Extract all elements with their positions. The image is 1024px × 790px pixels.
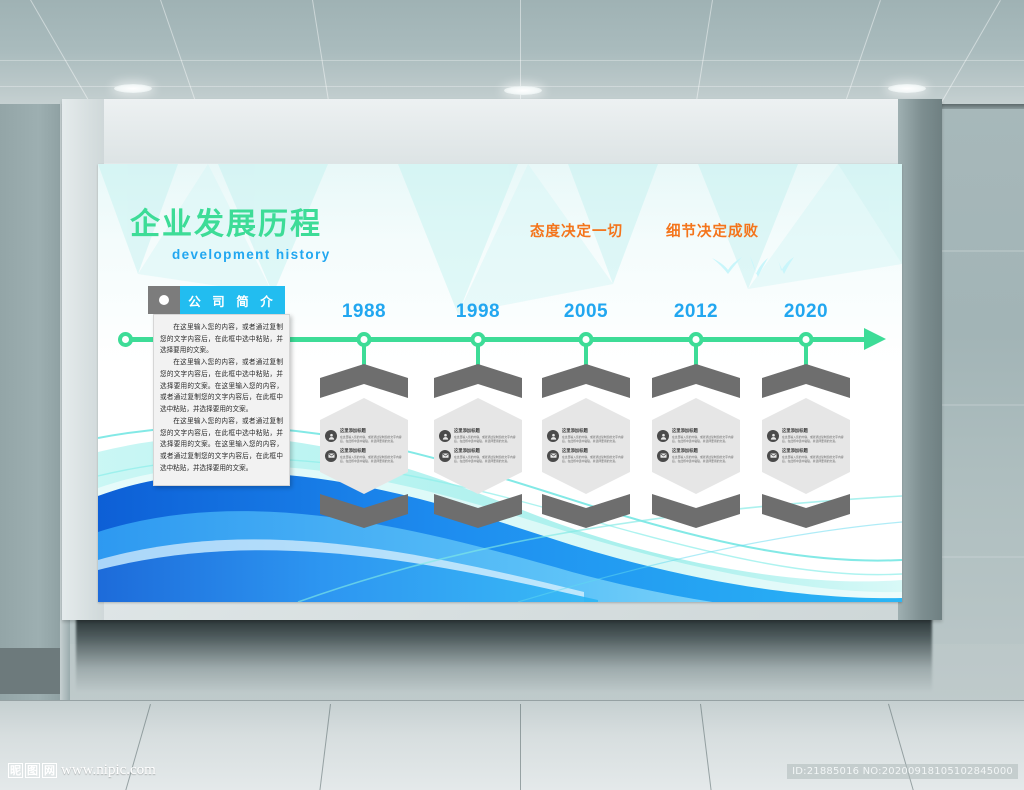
- ceiling-spotlight: [504, 86, 542, 95]
- company-intro-body: 在这里输入您的内容，或者通过复制您的文字内容后，在此框中选中粘贴，并选择要用的文…: [153, 314, 290, 486]
- company-intro-card[interactable]: 公 司 简 介 在这里输入您的内容，或者通过复制您的文字内容后，在此框中选中粘贴…: [148, 286, 278, 486]
- display-board-frame-right: [898, 99, 942, 620]
- milestone-card-body: 这里添加标题在这里输入您的内容，或者通过复制您的文字内容后，在此框中选中粘贴，并…: [542, 398, 630, 494]
- milestone-title: 这里添加标题: [672, 449, 735, 454]
- milestone-desc: 在这里输入您的内容，或者通过复制您的文字内容后，在此框中选中粘贴，并选择要用的文…: [782, 435, 845, 443]
- chevron-down-icon: [542, 494, 630, 528]
- milestone-row: 这里添加标题在这里输入您的内容，或者通过复制您的文字内容后，在此框中选中粘贴，并…: [547, 449, 625, 463]
- timeline-start-dot: [118, 332, 133, 347]
- image-id-tag: ID:21885016 NO:20200918105102845000: [787, 764, 1018, 779]
- milestone-text: 这里添加标题在这里输入您的内容，或者通过复制您的文字内容后，在此框中选中粘贴，并…: [782, 449, 845, 463]
- milestone-card-body: 这里添加标题在这里输入您的内容，或者通过复制您的文字内容后，在此框中选中粘贴，并…: [434, 398, 522, 494]
- milestone-row: 这里添加标题在这里输入您的内容，或者通过复制您的文字内容后，在此框中选中粘贴，并…: [325, 429, 403, 443]
- company-intro-tab[interactable]: 公 司 简 介: [148, 286, 285, 314]
- ceiling-grid-line: [30, 0, 101, 110]
- milestone-title: 这里添加标题: [562, 449, 625, 454]
- slogan-detail: 细节决定成败: [666, 220, 759, 241]
- milestone-desc: 在这里输入您的内容，或者通过复制您的文字内容后，在此框中选中粘贴，并选择要用的文…: [340, 435, 403, 443]
- mail-icon: [547, 450, 559, 462]
- person-icon: [657, 430, 669, 442]
- person-icon: [767, 430, 779, 442]
- slogan-attitude: 态度决定一切: [530, 220, 623, 241]
- ceiling-spotlight: [114, 84, 152, 93]
- ceiling-spotlight: [888, 84, 926, 93]
- mail-icon: [767, 450, 779, 462]
- floor-tile-line: [317, 704, 331, 790]
- board-shadow: [76, 614, 932, 692]
- mail-icon: [325, 450, 337, 462]
- timeline-year-2020: 2020: [784, 301, 828, 323]
- chevron-down-icon: [652, 494, 740, 528]
- chevron-up-icon: [542, 364, 630, 398]
- milestone-text: 这里添加标题在这里输入您的内容，或者通过复制您的文字内容后，在此框中选中粘贴，并…: [672, 449, 735, 463]
- chevron-down-icon: [434, 494, 522, 528]
- chevron-down-icon: [762, 494, 850, 528]
- milestone-card-body: 这里添加标题在这里输入您的内容，或者通过复制您的文字内容后，在此框中选中粘贴，并…: [320, 398, 408, 494]
- milestone-title: 这里添加标题: [340, 449, 403, 454]
- milestone-title: 这里添加标题: [340, 429, 403, 434]
- watermark-logo-char: 图: [25, 763, 40, 778]
- milestone-desc: 在这里输入您的内容，或者通过复制您的文字内容后，在此框中选中粘贴，并选择要用的文…: [672, 455, 735, 463]
- watermark-url: www.nipic.com: [61, 762, 156, 779]
- timeline-year-1998: 1998: [456, 301, 500, 323]
- milestone-card-2020[interactable]: 这里添加标题在这里输入您的内容，或者通过复制您的文字内容后，在此框中选中粘贴，并…: [762, 364, 850, 528]
- milestone-desc: 在这里输入您的内容，或者通过复制您的文字内容后，在此框中选中粘贴，并选择要用的文…: [340, 455, 403, 463]
- mail-icon: [439, 450, 451, 462]
- ceiling-grid-line: [692, 0, 713, 110]
- floor-tile-line: [520, 704, 521, 790]
- milestone-title: 这里添加标题: [454, 429, 517, 434]
- ceiling-grid-line: [160, 0, 203, 110]
- milestone-row: 这里添加标题在这里输入您的内容，或者通过复制您的文字内容后，在此框中选中粘贴，并…: [325, 449, 403, 463]
- milestone-card-body: 这里添加标题在这里输入您的内容，或者通过复制您的文字内容后，在此框中选中粘贴，并…: [652, 398, 740, 494]
- milestone-title: 这里添加标题: [672, 429, 735, 434]
- watermark: 昵 图 网 www.nipic.com: [8, 762, 156, 779]
- milestone-card-1988[interactable]: 这里添加标题在这里输入您的内容，或者通过复制您的文字内容后，在此框中选中粘贴，并…: [320, 364, 408, 528]
- milestone-desc: 在这里输入您的内容，或者通过复制您的文字内容后，在此框中选中粘贴，并选择要用的文…: [454, 435, 517, 443]
- bullet-dot-icon: [148, 286, 180, 314]
- page-title: 企业发展历程: [130, 210, 322, 240]
- person-icon: [325, 430, 337, 442]
- ceiling: [0, 0, 1024, 110]
- ceiling-grid-line: [312, 0, 333, 110]
- watermark-logo-char: 网: [42, 763, 57, 778]
- chevron-down-icon: [320, 494, 408, 528]
- milestone-desc: 在这里输入您的内容，或者通过复制您的文字内容后，在此框中选中粘贴，并选择要用的文…: [454, 455, 517, 463]
- milestone-text: 这里添加标题在这里输入您的内容，或者通过复制您的文字内容后，在此框中选中粘贴，并…: [672, 429, 735, 443]
- mail-icon: [657, 450, 669, 462]
- intro-paragraph: 在这里输入您的内容，或者通过复制您的文字内容后，在此框中选中粘贴，并选择要用的文…: [160, 322, 283, 357]
- milestone-text: 这里添加标题在这里输入您的内容，或者通过复制您的文字内容后，在此框中选中粘贴，并…: [454, 449, 517, 463]
- milestone-desc: 在这里输入您的内容，或者通过复制您的文字内容后，在此框中选中粘贴，并选择要用的文…: [782, 455, 845, 463]
- milestone-desc: 在这里输入您的内容，或者通过复制您的文字内容后，在此框中选中粘贴，并选择要用的文…: [562, 455, 625, 463]
- chevron-up-icon: [652, 364, 740, 398]
- timeline-year-1988: 1988: [342, 301, 386, 323]
- milestone-row: 这里添加标题在这里输入您的内容，或者通过复制您的文字内容后，在此框中选中粘贴，并…: [767, 429, 845, 443]
- chevron-up-icon: [434, 364, 522, 398]
- milestone-title: 这里添加标题: [782, 429, 845, 434]
- milestone-title: 这里添加标题: [562, 429, 625, 434]
- floor-tile-line: [0, 700, 1024, 701]
- chevron-up-icon: [762, 364, 850, 398]
- left-pillar: [0, 104, 64, 724]
- page-subtitle: development history: [172, 247, 331, 262]
- milestone-text: 这里添加标题在这里输入您的内容，或者通过复制您的文字内容后，在此框中选中粘贴，并…: [562, 429, 625, 443]
- ceiling-grid-line: [838, 0, 881, 110]
- left-pillar-base: [0, 648, 64, 694]
- milestone-title: 这里添加标题: [782, 449, 845, 454]
- company-intro-tab-label: 公 司 简 介: [180, 286, 285, 314]
- milestone-row: 这里添加标题在这里输入您的内容，或者通过复制您的文字内容后，在此框中选中粘贴，并…: [439, 449, 517, 463]
- person-icon: [439, 430, 451, 442]
- milestone-text: 这里添加标题在这里输入您的内容，或者通过复制您的文字内容后，在此框中选中粘贴，并…: [782, 429, 845, 443]
- intro-paragraph: 在这里输入您的内容，或者通过复制您的文字内容后，在此框中选中粘贴，并选择要用的文…: [160, 416, 283, 475]
- intro-paragraph: 在这里输入您的内容，或者通过复制您的文字内容后，在此框中选中粘贴，并选择要用的文…: [160, 357, 283, 416]
- milestone-row: 这里添加标题在这里输入您的内容，或者通过复制您的文字内容后，在此框中选中粘贴，并…: [767, 449, 845, 463]
- milestone-card-1998[interactable]: 这里添加标题在这里输入您的内容，或者通过复制您的文字内容后，在此框中选中粘贴，并…: [434, 364, 522, 528]
- birds-icon: [708, 248, 808, 284]
- milestone-card-2005[interactable]: 这里添加标题在这里输入您的内容，或者通过复制您的文字内容后，在此框中选中粘贴，并…: [542, 364, 630, 528]
- floor-tile-line: [700, 704, 714, 790]
- display-board-frame-top: [62, 99, 942, 163]
- milestone-row: 这里添加标题在这里输入您的内容，或者通过复制您的文字内容后，在此框中选中粘贴，并…: [657, 429, 735, 443]
- milestone-card-body: 这里添加标题在这里输入您的内容，或者通过复制您的文字内容后，在此框中选中粘贴，并…: [762, 398, 850, 494]
- ceiling-grid-line: [930, 0, 1001, 110]
- milestone-title: 这里添加标题: [454, 449, 517, 454]
- milestone-row: 这里添加标题在这里输入您的内容，或者通过复制您的文字内容后，在此框中选中粘贴，并…: [547, 429, 625, 443]
- milestone-desc: 在这里输入您的内容，或者通过复制您的文字内容后，在此框中选中粘贴，并选择要用的文…: [562, 435, 625, 443]
- milestone-card-2012[interactable]: 这里添加标题在这里输入您的内容，或者通过复制您的文字内容后，在此框中选中粘贴，并…: [652, 364, 740, 528]
- watermark-logo: 昵 图 网: [8, 763, 57, 778]
- milestone-text: 这里添加标题在这里输入您的内容，或者通过复制您的文字内容后，在此框中选中粘贴，并…: [340, 429, 403, 443]
- scene-root: 企业发展历程 development history 态度决定一切 细节决定成败: [0, 0, 1024, 790]
- milestone-text: 这里添加标题在这里输入您的内容，或者通过复制您的文字内容后，在此框中选中粘贴，并…: [454, 429, 517, 443]
- milestone-text: 这里添加标题在这里输入您的内容，或者通过复制您的文字内容后，在此框中选中粘贴，并…: [340, 449, 403, 463]
- person-icon: [547, 430, 559, 442]
- timeline-arrow-head-icon: [864, 328, 886, 350]
- watermark-logo-char: 昵: [8, 763, 23, 778]
- milestone-desc: 在这里输入您的内容，或者通过复制您的文字内容后，在此框中选中粘贴，并选择要用的文…: [672, 435, 735, 443]
- milestone-row: 这里添加标题在这里输入您的内容，或者通过复制您的文字内容后，在此框中选中粘贴，并…: [657, 449, 735, 463]
- timeline-year-2005: 2005: [564, 301, 608, 323]
- milestone-text: 这里添加标题在这里输入您的内容，或者通过复制您的文字内容后，在此框中选中粘贴，并…: [562, 449, 625, 463]
- chevron-up-icon: [320, 364, 408, 398]
- poster: 企业发展历程 development history 态度决定一切 细节决定成败: [98, 164, 902, 602]
- timeline-year-2012: 2012: [674, 301, 718, 323]
- milestone-row: 这里添加标题在这里输入您的内容，或者通过复制您的文字内容后，在此框中选中粘贴，并…: [439, 429, 517, 443]
